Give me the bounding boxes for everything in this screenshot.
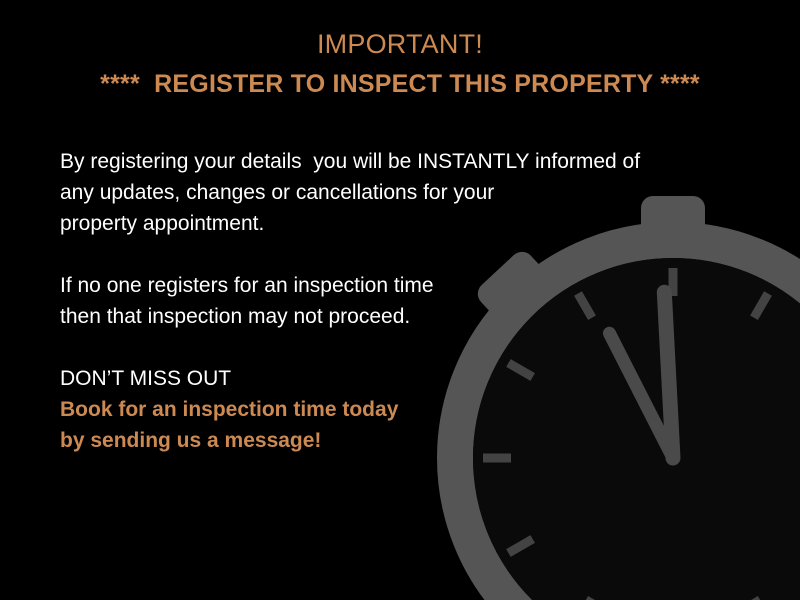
paragraph-1-line-2: any updates, changes or cancellations fo… — [60, 177, 720, 208]
paragraph-2-line-2: then that inspection may not proceed. — [60, 301, 720, 332]
paragraph-2-line-1: If no one registers for an inspection ti… — [60, 270, 720, 301]
paragraph-1-line-1: By registering your details you will be … — [60, 146, 720, 177]
paragraph-1-line-3: property appointment. — [60, 208, 720, 239]
cta-book-inspection: Book for an inspection time today — [60, 394, 660, 425]
presentation-slide: IMPORTANT! **** REGISTER TO INSPECT THIS… — [0, 0, 800, 600]
slide-text-layer: IMPORTANT! **** REGISTER TO INSPECT THIS… — [0, 0, 800, 600]
cta-dont-miss-out: DON’T MISS OUT — [60, 363, 660, 394]
heading-register-to-inspect: **** REGISTER TO INSPECT THIS PROPERTY *… — [0, 66, 800, 102]
paragraph-spacer — [60, 239, 720, 270]
heading-important: IMPORTANT! — [0, 26, 800, 62]
call-to-action-block: DON’T MISS OUT Book for an inspection ti… — [60, 363, 660, 456]
body-block: By registering your details you will be … — [60, 146, 720, 332]
heading-block: IMPORTANT! **** REGISTER TO INSPECT THIS… — [0, 26, 800, 102]
cta-send-message: by sending us a message! — [60, 425, 660, 456]
